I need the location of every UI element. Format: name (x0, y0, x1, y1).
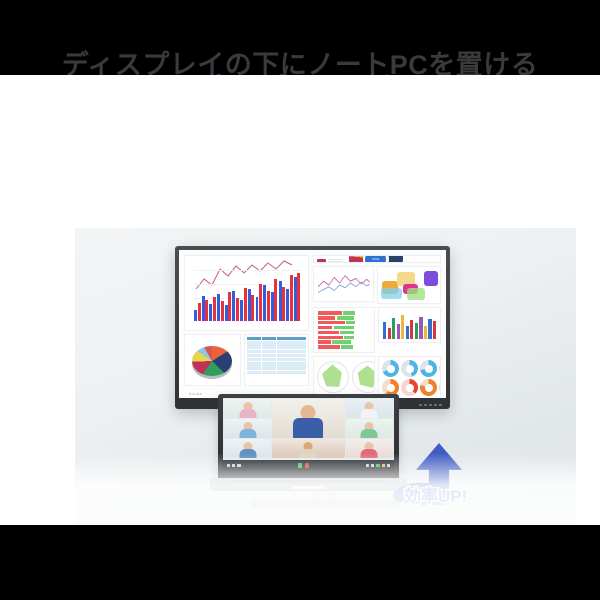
display-port-indicators (419, 404, 442, 406)
participant-tile[interactable] (346, 419, 393, 438)
mic-icon (298, 463, 303, 468)
horizontal-bar-chart (313, 307, 376, 353)
mini-donut (420, 379, 437, 396)
radar-chart (352, 360, 376, 394)
video-conference-grid (223, 398, 394, 460)
pie-and-table-row: — — — (184, 334, 309, 386)
canvas: — — — (0, 75, 600, 525)
mini-donut (439, 360, 441, 377)
donut-center-label: TOTAL (365, 255, 386, 263)
radar-chart (317, 360, 349, 394)
efficiency-badge: 効率UP! (404, 482, 467, 507)
pie-chart-3d: — — — (184, 334, 241, 386)
mini-donut (401, 360, 418, 377)
display-monitor: — — — (175, 246, 450, 409)
small-donut-grid (378, 356, 441, 398)
dashboard-left-column: — — — (184, 255, 309, 393)
combo-bar-line-chart (184, 255, 309, 331)
mini-donut (439, 379, 441, 396)
toolbar-right-icons[interactable] (366, 464, 390, 467)
participant-tile[interactable] (346, 399, 393, 418)
dashboard-right-column: TOTAL (313, 255, 442, 393)
participant-tile[interactable] (346, 439, 393, 458)
bar-series (194, 269, 301, 321)
participant-tile[interactable] (224, 399, 271, 418)
efficiency-badge-outline: 効率UP! (404, 482, 467, 507)
laptop-base (210, 478, 407, 491)
participant-tile[interactable] (224, 419, 271, 438)
product-photo: — — — (75, 228, 576, 525)
up-arrow-icon (416, 443, 462, 499)
display-stand-base (251, 499, 401, 508)
laptop-keyboard (228, 480, 389, 485)
participant-tile[interactable] (224, 439, 271, 458)
toolbar-center-controls[interactable] (298, 463, 310, 468)
video-call-toolbar[interactable] (223, 460, 394, 471)
multicolor-bar-chart (378, 307, 441, 343)
pie-disc (192, 346, 232, 376)
laptop (218, 394, 399, 499)
laptop-lid (218, 394, 399, 478)
laptop-trackpad (292, 486, 326, 489)
small-line-chart (313, 266, 375, 302)
display-screen: — — — (179, 250, 446, 398)
laptop-screen (223, 398, 394, 471)
display-bezel: — — — (175, 246, 450, 409)
donut-ring: TOTAL (349, 255, 403, 263)
mini-donut (420, 360, 437, 377)
arrow-flare (393, 483, 445, 505)
display-brand-logo: SHARP (189, 392, 202, 396)
mini-donut (382, 360, 399, 377)
participant-tile[interactable] (272, 439, 345, 458)
line-series (317, 270, 371, 298)
screenshot-root: ディスプレイの下にノートPCを置ける ディスプレイとPCを 上下で並べられ省スペ… (0, 0, 600, 600)
data-table (244, 334, 309, 386)
kpi-card (317, 259, 342, 263)
analytics-dashboard: — — — (179, 250, 446, 398)
mini-donut (401, 379, 418, 396)
kpi-and-donut-panel: TOTAL (313, 255, 442, 263)
toolbar-left-icons[interactable] (227, 464, 241, 467)
rounded-blocks-diagram (377, 266, 441, 304)
participant-tile-speaker[interactable] (272, 399, 345, 438)
end-call-icon (305, 463, 310, 468)
radar-charts (313, 356, 376, 398)
